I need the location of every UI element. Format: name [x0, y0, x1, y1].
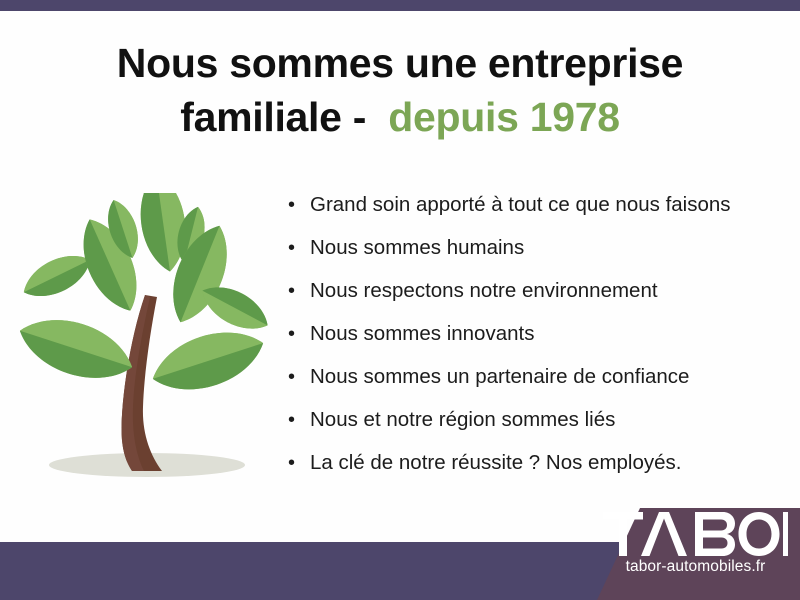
title-line-1: Nous sommes une entreprise	[0, 36, 800, 90]
leaf-lower-right	[145, 319, 268, 403]
bullet-marker-icon: •	[288, 407, 310, 433]
list-item-label: Nous sommes un partenaire de confiance	[310, 364, 689, 390]
list-item: • Nous sommes innovants	[288, 321, 788, 364]
slide-title: Nous sommes une entreprise familiale - d…	[0, 36, 800, 144]
bullet-marker-icon: •	[288, 278, 310, 304]
bullet-marker-icon: •	[288, 235, 310, 261]
list-item: • Nous respectons notre environnement	[288, 278, 788, 321]
bullet-marker-icon: •	[288, 450, 310, 476]
list-item-label: Grand soin apporté à tout ce que nous fa…	[310, 192, 731, 218]
bullet-marker-icon: •	[288, 192, 310, 218]
title-accent-year: depuis 1978	[388, 94, 619, 140]
leaf-lower-left	[14, 306, 140, 391]
title-separator-dash: -	[353, 94, 366, 140]
bullet-marker-icon: •	[288, 321, 310, 347]
list-item: • Nous sommes humains	[288, 235, 788, 278]
tabor-logo-wordmark	[603, 512, 788, 556]
list-item-label: Nous respectons notre environnement	[310, 278, 658, 304]
title-line-2-black: familiale	[180, 94, 341, 140]
bullet-list: • Grand soin apporté à tout ce que nous …	[288, 192, 788, 493]
title-dash	[342, 94, 353, 140]
list-item: • La clé de notre réussite ? Nos employé…	[288, 450, 788, 493]
title-space	[366, 94, 388, 140]
list-item: • Nous sommes un partenaire de confiance	[288, 364, 788, 407]
list-item: • Grand soin apporté à tout ce que nous …	[288, 192, 788, 235]
bullet-marker-icon: •	[288, 364, 310, 390]
list-item-label: Nous et notre région sommes liés	[310, 407, 615, 433]
list-item-label: La clé de notre réussite ? Nos employés.	[310, 450, 681, 476]
list-item-label: Nous sommes innovants	[310, 321, 534, 347]
title-line-2: familiale - depuis 1978	[0, 90, 800, 144]
slide-canvas: Nous sommes une entreprise familiale - d…	[0, 0, 800, 600]
list-item: • Nous et notre région sommes liés	[288, 407, 788, 450]
list-item-label: Nous sommes humains	[310, 235, 524, 261]
tree-illustration	[14, 193, 268, 485]
logo-url-text: tabor-automobiles.fr	[603, 558, 788, 576]
top-accent-band	[0, 0, 800, 11]
